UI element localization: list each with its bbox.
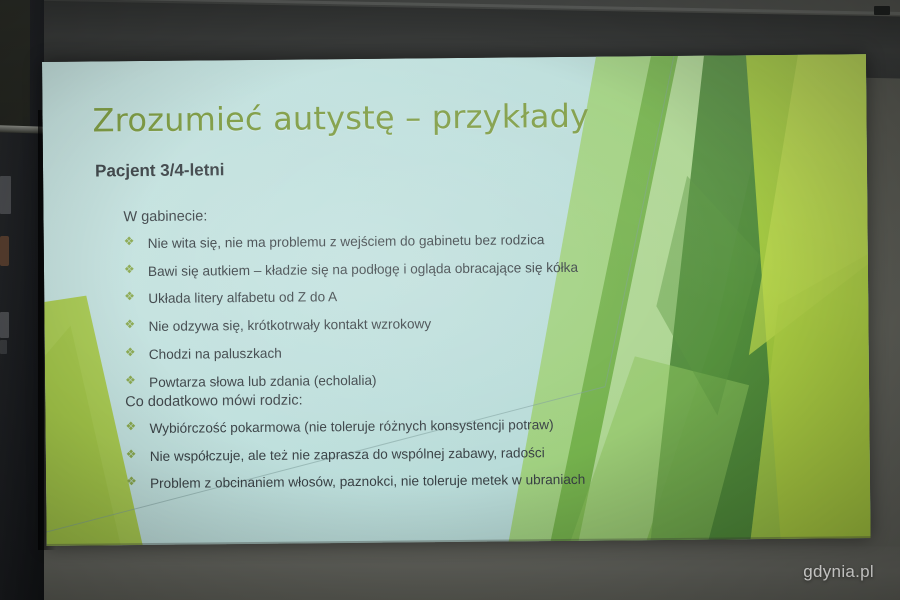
list-item: ❖Chodzi na paluszkach	[125, 340, 825, 362]
diamond-bullet-icon: ❖	[125, 346, 136, 358]
door-handle	[0, 340, 7, 354]
list-item-text: Nie współczuje, ale też nie zaprasza do …	[150, 445, 545, 464]
list-item-text: Problem z obcinaniem włosów, paznokci, n…	[150, 472, 585, 491]
diamond-bullet-icon: ❖	[124, 263, 135, 275]
list-item-text: Wybiórczość pokarmowa (nie toleruje różn…	[149, 417, 553, 436]
list-item: ❖Powtarza słowa lub zdania (echolalia)	[125, 368, 825, 390]
diamond-bullet-icon: ❖	[126, 448, 137, 460]
list-item-text: Powtarza słowa lub zdania (echolalia)	[149, 372, 377, 389]
list-item: ❖Nie odzywa się, krótkotrwały kontakt wz…	[124, 313, 824, 335]
list-item: ❖Problem z obcinaniem włosów, paznokci, …	[126, 470, 826, 492]
list-item-text: Nie odzywa się, krótkotrwały kontakt wzr…	[148, 316, 431, 334]
list-item: ❖Nie współczuje, ale też nie zaprasza do…	[126, 442, 826, 464]
slide-title: Zrozumieć autystę – przykłady	[92, 97, 589, 140]
bullet-group-parent: Co dodatkowo mówi rodzic: ❖Wybiórczość p…	[125, 387, 826, 504]
diamond-bullet-icon: ❖	[124, 318, 135, 330]
list-item-text: Układa litery alfabetu od Z do A	[148, 290, 337, 307]
list-item: ❖Wybiórczość pokarmowa (nie toleruje róż…	[125, 414, 825, 436]
diamond-bullet-icon: ❖	[126, 476, 137, 488]
wall-below-screen	[0, 538, 900, 600]
diamond-bullet-icon: ❖	[125, 420, 136, 432]
photograph: Zrozumieć autystę – przykłady Pacjent 3/…	[0, 0, 900, 600]
bullet-list-office: ❖Nie wita się, nie ma problemu z wejście…	[124, 230, 825, 391]
bullet-group-office: W gabinecie: ❖Nie wita się, nie ma probl…	[123, 203, 825, 403]
diamond-bullet-icon: ❖	[124, 291, 135, 303]
watermark: gdynia.pl	[803, 562, 874, 582]
list-item: ❖Bawi się autkiem – kładzie się na podło…	[124, 257, 824, 279]
slide-content: Zrozumieć autystę – przykłady Pacjent 3/…	[42, 54, 871, 546]
list-item-text: Bawi się autkiem – kładzie się na podłog…	[148, 260, 578, 279]
door-column-top	[0, 0, 30, 128]
door-plate-upper	[0, 176, 11, 214]
diamond-bullet-icon: ❖	[124, 235, 135, 247]
list-item: ❖Układa litery alfabetu od Z do A	[124, 285, 824, 307]
list-item-text: Nie wita się, nie ma problemu z wejściem…	[148, 232, 545, 251]
list-item-text: Chodzi na paluszkach	[149, 346, 282, 362]
projection-screen: Zrozumieć autystę – przykłady Pacjent 3/…	[42, 54, 871, 546]
door-plate-lower	[0, 312, 9, 338]
ceiling-fixture	[874, 6, 890, 15]
bullet-list-parent: ❖Wybiórczość pokarmowa (nie toleruje róż…	[125, 414, 826, 491]
slide-subtitle: Pacjent 3/4-letni	[95, 160, 225, 181]
list-item: ❖Nie wita się, nie ma problemu z wejście…	[124, 230, 824, 252]
diamond-bullet-icon: ❖	[125, 374, 136, 386]
door-warm-detail	[0, 236, 9, 266]
group-lead-label: W gabinecie:	[123, 203, 823, 226]
